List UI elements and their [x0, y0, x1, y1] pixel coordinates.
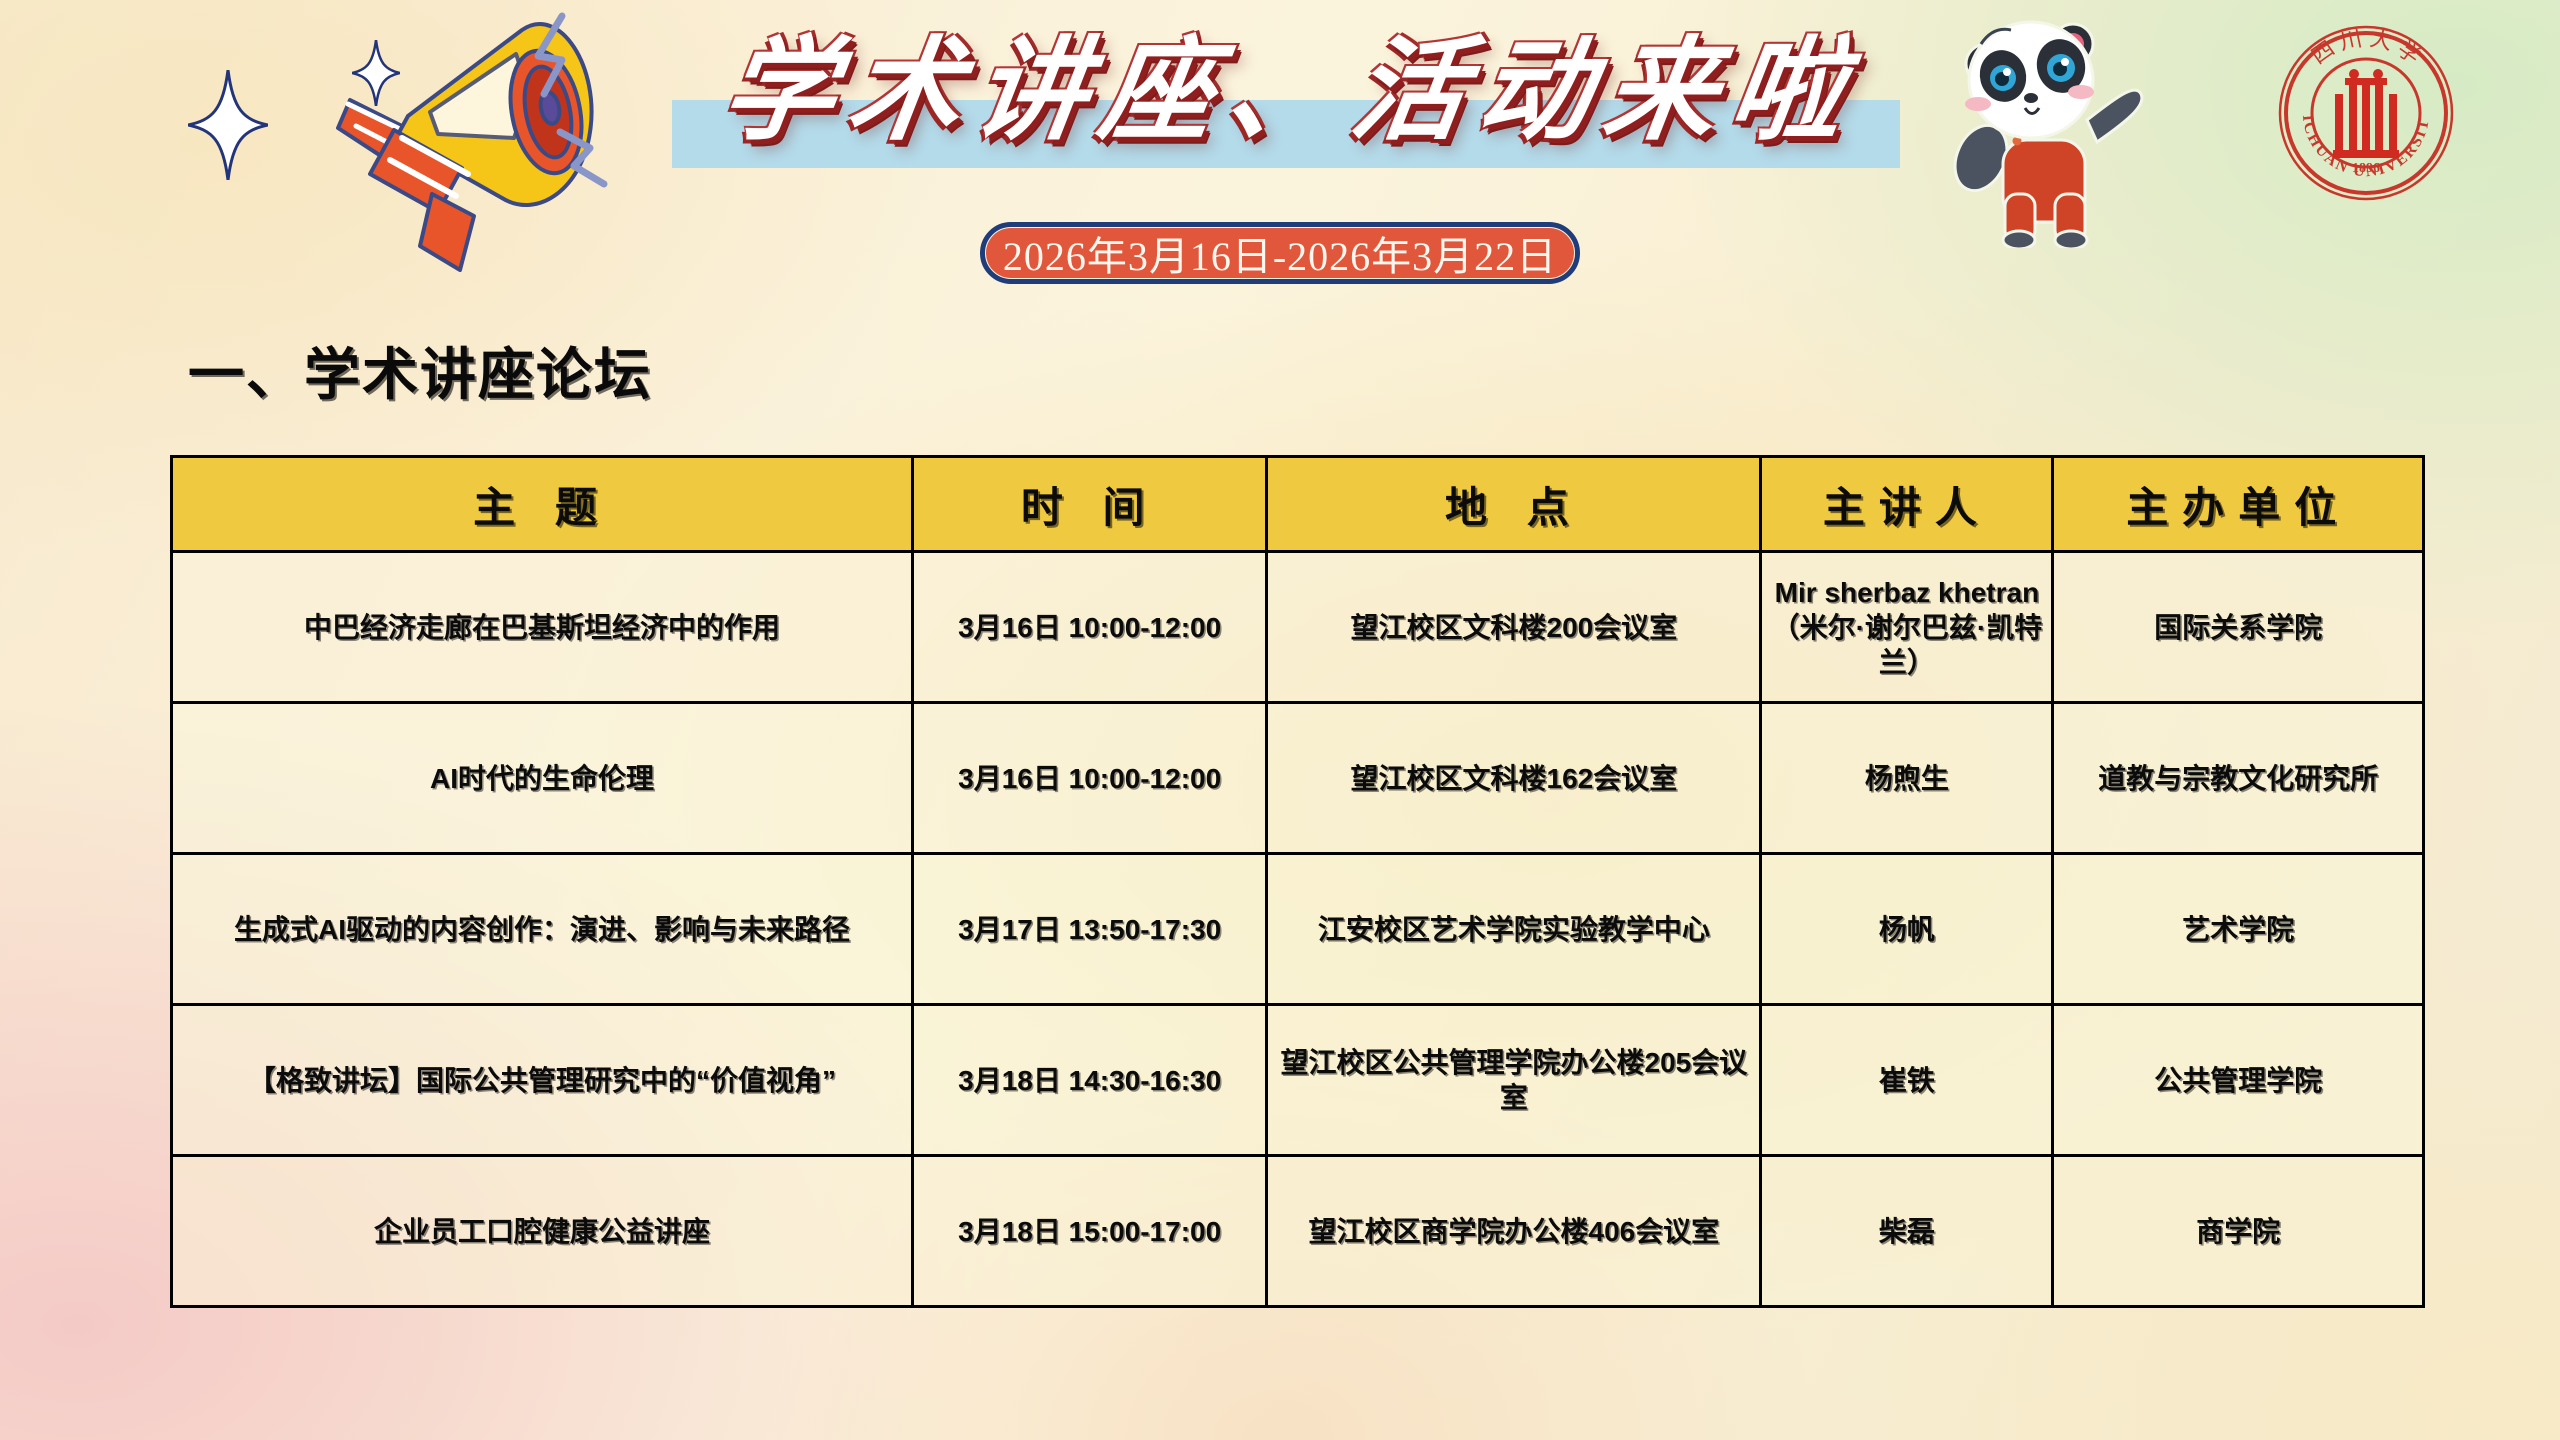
table-row: AI时代的生命伦理 3月16日 10:00-12:00 望江校区文科楼162会议…	[172, 703, 2424, 854]
date-range-badge: 2026年3月16日-2026年3月22日	[980, 222, 1580, 284]
date-badge-fill: 2026年3月16日-2026年3月22日	[986, 228, 1574, 278]
table-header-row: 主 题 时 间 地 点 主讲人 主办单位	[172, 457, 2424, 552]
column-header-speaker: 主讲人	[1761, 457, 2053, 552]
cell-place: 望江校区文科楼200会议室	[1267, 552, 1761, 703]
table-row: 企业员工口腔健康公益讲座 3月18日 15:00-17:00 望江校区商学院办公…	[172, 1156, 2424, 1307]
cell-topic: 生成式AI驱动的内容创作：演进、影响与未来路径	[172, 854, 913, 1005]
cell-host: 公共管理学院	[2053, 1005, 2424, 1156]
cell-host: 国际关系学院	[2053, 552, 2424, 703]
cell-topic: 【格致讲坛】国际公共管理研究中的“价值视角”	[172, 1005, 913, 1156]
date-range-text: 2026年3月16日-2026年3月22日	[1003, 224, 1557, 282]
cell-speaker: 杨煦生	[1761, 703, 2053, 854]
cell-host: 艺术学院	[2053, 854, 2424, 1005]
cell-host: 商学院	[2053, 1156, 2424, 1307]
column-header-time: 时 间	[913, 457, 1267, 552]
table-row: 【格致讲坛】国际公共管理研究中的“价值视角” 3月18日 14:30-16:30…	[172, 1005, 2424, 1156]
lectures-table: 主 题 时 间 地 点 主讲人 主办单位 中巴经济走廊在巴基斯坦经济中的作用 3…	[170, 455, 2425, 1308]
svg-text:1896: 1896	[2352, 161, 2380, 176]
cell-host: 道教与宗教文化研究所	[2053, 703, 2424, 854]
table-row: 生成式AI驱动的内容创作：演进、影响与未来路径 3月17日 13:50-17:3…	[172, 854, 2424, 1005]
megaphone-icon	[310, 8, 670, 288]
svg-text:四 川 大 学: 四 川 大 学	[2307, 26, 2426, 69]
cell-time: 3月16日 10:00-12:00	[913, 552, 1267, 703]
cell-place: 望江校区文科楼162会议室	[1267, 703, 1761, 854]
cell-speaker: Mir sherbaz khetran（米尔·谢尔巴兹·凯特兰）	[1761, 552, 2053, 703]
cell-time: 3月17日 13:50-17:30	[913, 854, 1267, 1005]
column-header-place: 地 点	[1267, 457, 1761, 552]
cell-topic: 企业员工口腔健康公益讲座	[172, 1156, 913, 1307]
cell-time: 3月18日 15:00-17:00	[913, 1156, 1267, 1307]
cell-topic: 中巴经济走廊在巴基斯坦经济中的作用	[172, 552, 913, 703]
cell-time: 3月16日 10:00-12:00	[913, 703, 1267, 854]
column-header-host: 主办单位	[2053, 457, 2424, 552]
page-title: 学术讲座、活动来啦	[650, 22, 1930, 162]
table-row: 中巴经济走廊在巴基斯坦经济中的作用 3月16日 10:00-12:00 望江校区…	[172, 552, 2424, 703]
cell-topic: AI时代的生命伦理	[172, 703, 913, 854]
sparkle-icon	[188, 70, 268, 180]
lectures-table-wrapper: 主 题 时 间 地 点 主讲人 主办单位 中巴经济走廊在巴基斯坦经济中的作用 3…	[170, 455, 2425, 1308]
panda-mascot-icon	[1945, 8, 2160, 248]
header-banner: 学术讲座、活动来啦 2026年3月16日-2026年3月22日	[0, 0, 2560, 330]
cell-place: 望江校区公共管理学院办公楼205会议室	[1267, 1005, 1761, 1156]
cell-place: 江安校区艺术学院实验教学中心	[1267, 854, 1761, 1005]
cell-speaker: 崔铁	[1761, 1005, 2053, 1156]
cell-time: 3月18日 14:30-16:30	[913, 1005, 1267, 1156]
cell-place: 望江校区商学院办公楼406会议室	[1267, 1156, 1761, 1307]
cell-speaker: 柴磊	[1761, 1156, 2053, 1307]
column-header-topic: 主 题	[172, 457, 913, 552]
sichuan-university-logo: 四 川 大 学 SICHUAN UNIVERSITY 1896	[2275, 22, 2457, 204]
section-heading: 一、学术讲座论坛	[188, 330, 652, 411]
cell-speaker: 杨帆	[1761, 854, 2053, 1005]
